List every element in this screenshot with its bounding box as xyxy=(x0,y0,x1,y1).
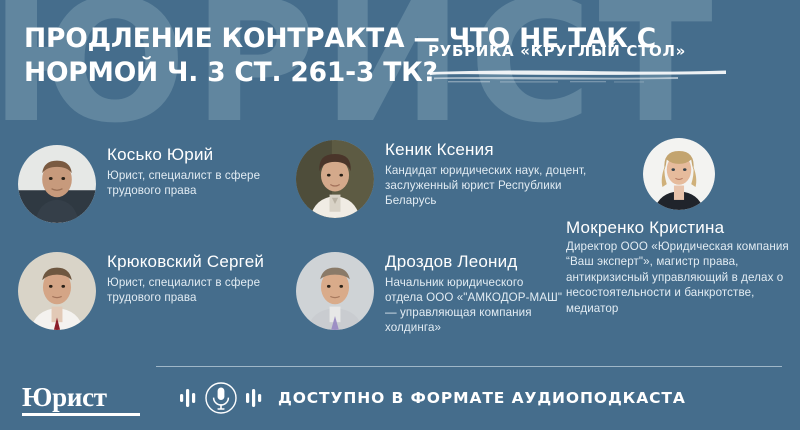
speaker-card-kryukovskiy: Крюковский Сергей Юрист, специалист в сф… xyxy=(18,252,311,330)
speaker-text-drozdov: Дроздов Леонид Начальник юридического от… xyxy=(374,252,564,335)
rubric-label: РУБРИКА «КРУГЛЫЙ СТОЛ» xyxy=(428,42,738,60)
speaker-description: Директор ООО «Юридическая компания “Ваш … xyxy=(566,239,792,316)
speaker-description: Кандидат юридических наук, доцент, заслу… xyxy=(385,163,592,208)
avatar-kryukovskiy xyxy=(18,252,96,330)
speaker-card-mokrenko: Мокренко Кристина Директор ООО «Юридичес… xyxy=(566,138,792,316)
poster-stage: ЮРИСТ ПРОДЛЕНИЕ КОНТРАКТА — ЧТО НЕ ТАК С… xyxy=(0,0,800,430)
speaker-name: Кеник Ксения xyxy=(385,140,592,160)
footer: Юрист ДОСТУПНО xyxy=(0,372,800,430)
speaker-card-kenik: Кеник Ксения Кандидат юридических наук, … xyxy=(296,140,592,218)
speaker-name: Косько Юрий xyxy=(107,145,311,165)
speaker-text-kosko: Косько Юрий Юрист, специалист в сфере тр… xyxy=(96,145,311,198)
speaker-name: Крюковский Сергей xyxy=(107,252,311,272)
brand-logo-underline xyxy=(22,413,140,416)
microphone-waveform-icon[interactable] xyxy=(178,380,264,416)
speaker-text-mokrenko: Мокренко Кристина Директор ООО «Юридичес… xyxy=(566,218,792,316)
speaker-description: Юрист, специалист в сфере трудового прав… xyxy=(107,168,311,198)
podcast-label: ДОСТУПНО В ФОРМАТЕ АУДИОПОДКАСТА xyxy=(278,389,686,407)
rubric-block: РУБРИКА «КРУГЛЫЙ СТОЛ» xyxy=(428,42,738,85)
speaker-description: Начальник юридического отдела ООО «"АМКО… xyxy=(385,275,564,335)
speaker-name: Мокренко Кристина xyxy=(566,218,792,238)
brush-stroke-underline xyxy=(428,69,728,85)
footer-divider xyxy=(156,366,782,367)
speaker-card-drozdov: Дроздов Леонид Начальник юридического от… xyxy=(296,252,564,335)
avatar-kenik xyxy=(296,140,374,218)
avatar-mokrenko xyxy=(643,138,715,210)
avatar-drozdov xyxy=(296,252,374,330)
speaker-description: Юрист, специалист в сфере трудового прав… xyxy=(107,275,311,305)
podcast-banner: ДОСТУПНО В ФОРМАТЕ АУДИОПОДКАСТА xyxy=(178,380,686,416)
speaker-text-kryukovskiy: Крюковский Сергей Юрист, специалист в сф… xyxy=(96,252,311,305)
brand-logo[interactable]: Юрист xyxy=(22,382,107,412)
speaker-text-kenik: Кеник Ксения Кандидат юридических наук, … xyxy=(374,140,592,208)
speaker-card-kosko: Косько Юрий Юрист, специалист в сфере тр… xyxy=(18,145,311,223)
avatar-kosko xyxy=(18,145,96,223)
speaker-name: Дроздов Леонид xyxy=(385,252,564,272)
